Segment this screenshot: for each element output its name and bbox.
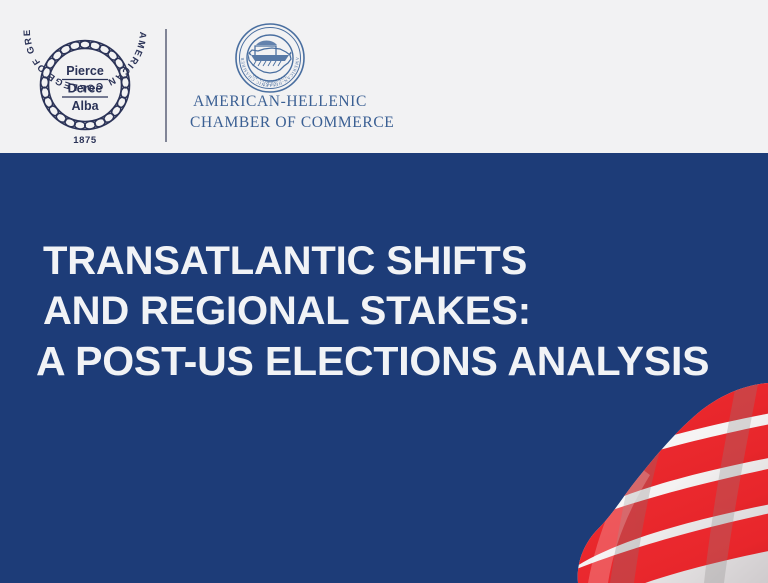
amcham-wordmark: AMERICAN-HELLENIC CHAMBER OF COMMERCE	[190, 92, 370, 134]
acg-inner-line-3: Alba	[71, 99, 99, 113]
acg-logo: THE AMERICAN COLLEGE OF GREECE	[18, 19, 152, 147]
amcham-seal: AMERICAN-HELLENIC CHAMBER · OF COMMERCE …	[234, 22, 306, 94]
title-line-3: A POST-US ELECTIONS ANALYSIS	[0, 336, 768, 386]
amcham-wordmark-line-1: AMERICAN-HELLENIC	[190, 92, 370, 113]
logo-divider	[165, 29, 167, 142]
american-college-of-greece-seal-icon: THE AMERICAN COLLEGE OF GREECE	[18, 19, 152, 147]
amcham-logo: AMERICAN-HELLENIC CHAMBER · OF COMMERCE …	[190, 22, 370, 136]
title-slide: THE AMERICAN COLLEGE OF GREECE	[0, 0, 768, 583]
title-line-1: TRANSATLANTIC SHIFTS	[0, 236, 768, 286]
waving-american-flag-image	[538, 383, 768, 583]
acg-founded-year: 1875	[73, 135, 97, 146]
flag-icon	[538, 383, 768, 583]
amcham-seal-year: 1932	[263, 83, 277, 88]
amcham-wordmark-line-2: CHAMBER OF COMMERCE	[190, 113, 370, 134]
american-hellenic-chamber-seal-icon: AMERICAN-HELLENIC CHAMBER · OF COMMERCE …	[234, 22, 306, 94]
logo-header-band: THE AMERICAN COLLEGE OF GREECE	[0, 0, 768, 153]
page-title: TRANSATLANTIC SHIFTS AND REGIONAL STAKES…	[0, 236, 768, 386]
acg-inner-line-1: Pierce	[66, 64, 104, 78]
title-line-2: AND REGIONAL STAKES:	[0, 286, 768, 336]
acg-inner-line-2: Deree	[68, 82, 103, 96]
